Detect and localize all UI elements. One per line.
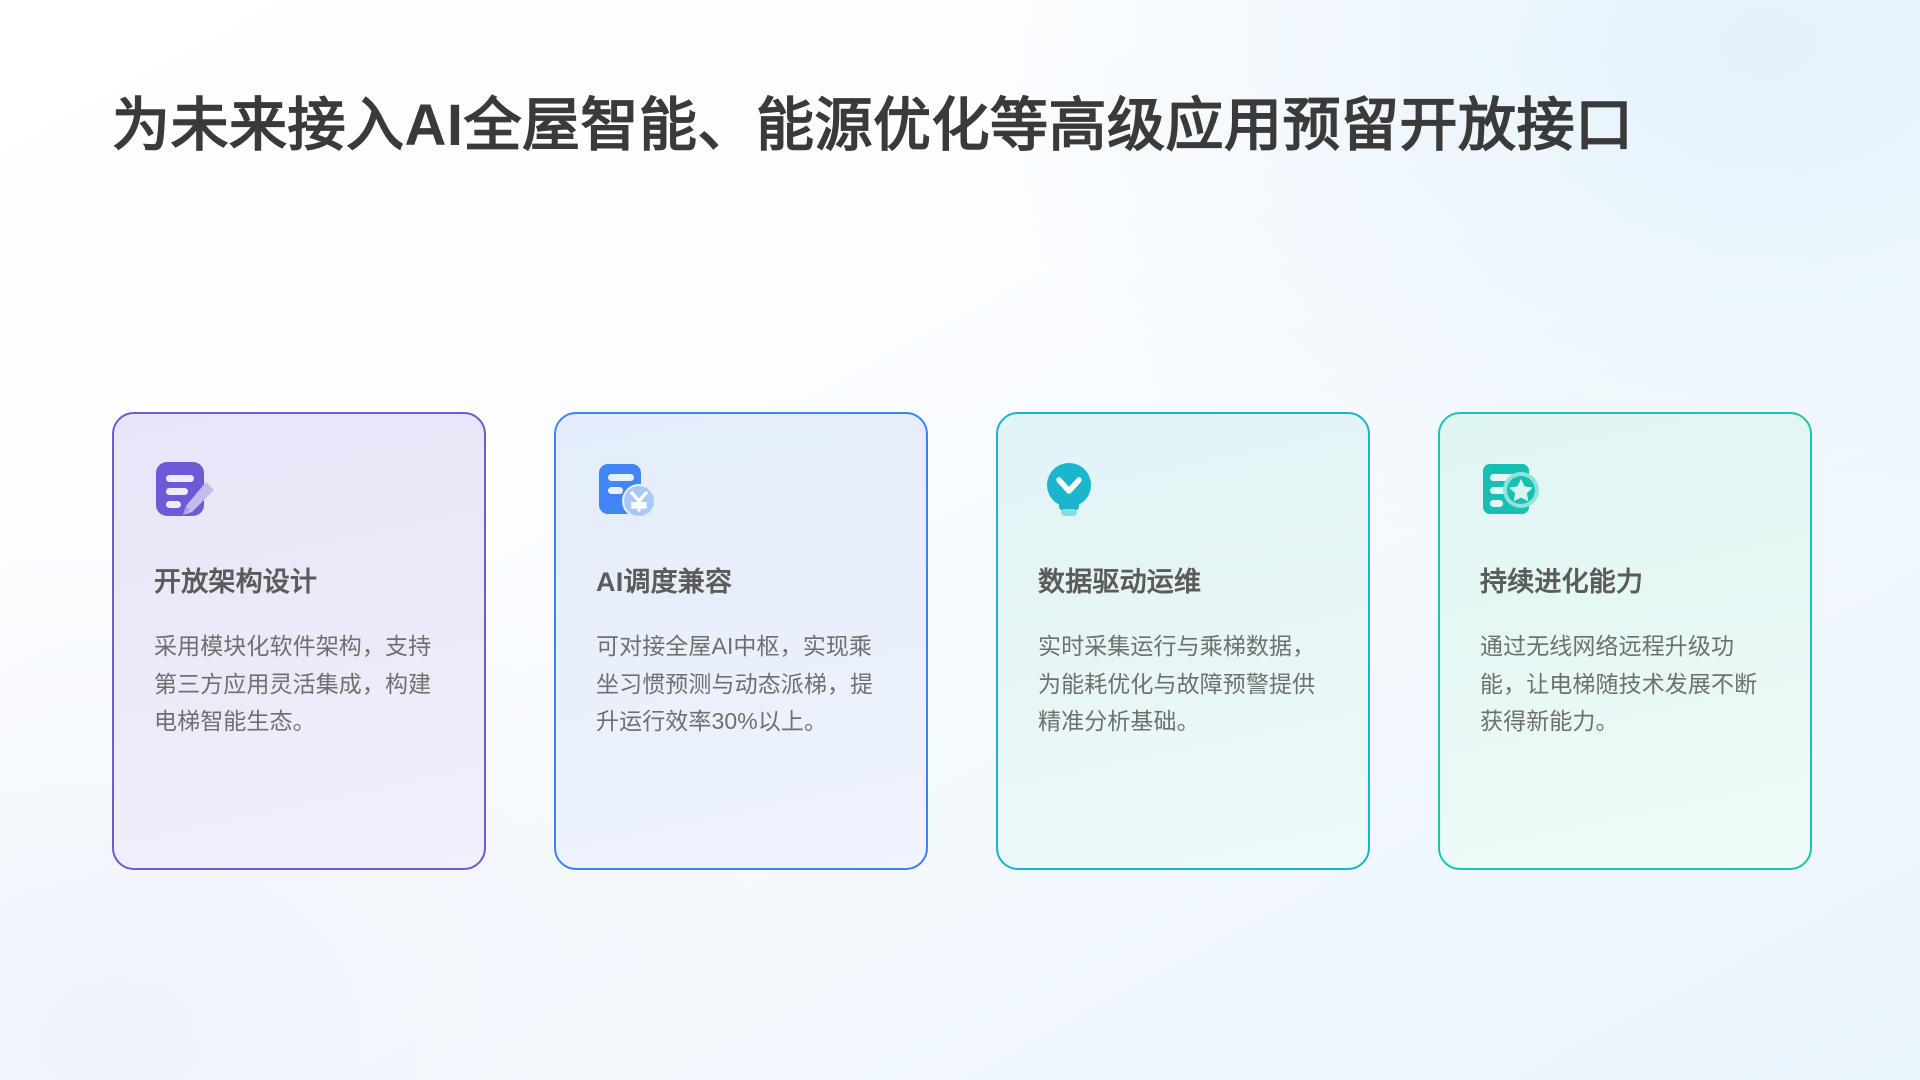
page-title: 为未来接入AI全屋智能、能源优化等高级应用预留开放接口 [112,92,1810,160]
document-edit-icon [154,460,216,522]
card-title: 持续进化能力 [1480,566,1770,598]
card-title: 数据驱动运维 [1038,566,1328,598]
feature-card-row: 开放架构设计 采用模块化软件架构，支持第三方应用灵活集成，构建电梯智能生态。 A… [112,412,1812,870]
certificate-star-icon [1480,460,1542,522]
feature-card[interactable]: 数据驱动运维 实时采集运行与乘梯数据，为能耗优化与故障预警提供精准分析基础。 [996,412,1370,870]
card-body: 通过无线网络远程升级功能，让电梯随技术发展不断获得新能力。 [1480,628,1770,740]
card-body: 实时采集运行与乘梯数据，为能耗优化与故障预警提供精准分析基础。 [1038,628,1328,740]
slide-root: 为未来接入AI全屋智能、能源优化等高级应用预留开放接口 开放架构设计 采用模块化… [0,0,1920,1080]
feature-card[interactable]: 持续进化能力 通过无线网络远程升级功能，让电梯随技术发展不断获得新能力。 [1438,412,1812,870]
feature-card[interactable]: 开放架构设计 采用模块化软件架构，支持第三方应用灵活集成，构建电梯智能生态。 [112,412,486,870]
title-container: 为未来接入AI全屋智能、能源优化等高级应用预留开放接口 [112,92,1810,160]
feature-card[interactable]: AI调度兼容 可对接全屋AI中枢，实现乘坐习惯预测与动态派梯，提升运行效率30%… [554,412,928,870]
lightbulb-chevron-icon [1038,460,1100,522]
card-title: 开放架构设计 [154,566,444,598]
card-body: 可对接全屋AI中枢，实现乘坐习惯预测与动态派梯，提升运行效率30%以上。 [596,628,886,740]
invoice-yuan-icon [596,460,658,522]
card-body: 采用模块化软件架构，支持第三方应用灵活集成，构建电梯智能生态。 [154,628,444,740]
card-title: AI调度兼容 [596,566,886,598]
